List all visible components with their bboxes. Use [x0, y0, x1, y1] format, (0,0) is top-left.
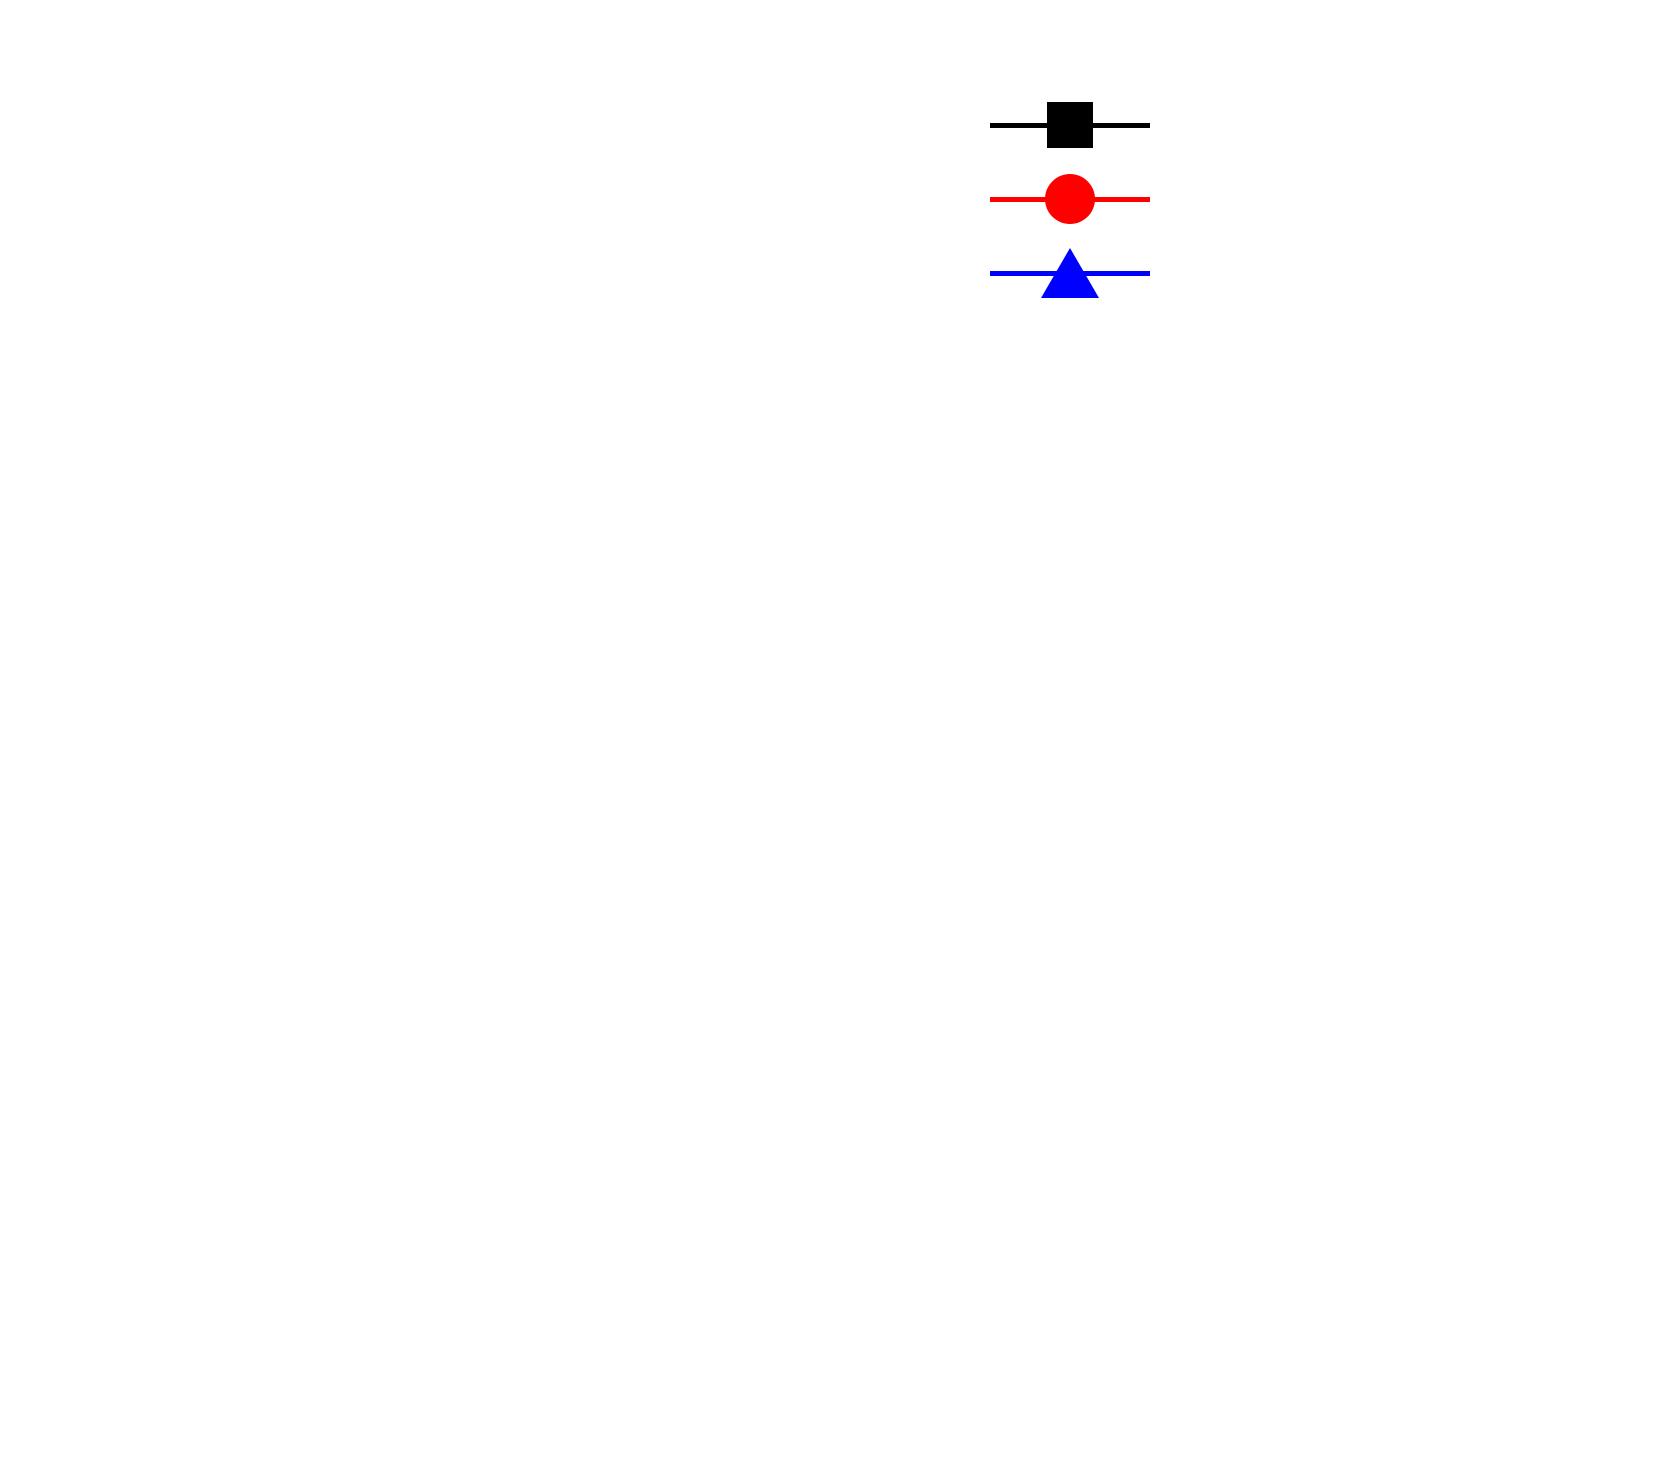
triangle-marker-icon [1041, 248, 1099, 298]
legend-item-3rd-catalysis[interactable] [990, 236, 1510, 310]
legend-key-2nd [990, 169, 1150, 229]
chart-figure [0, 0, 1669, 1466]
legend-item-1st-catalysis[interactable] [990, 88, 1510, 162]
circle-marker-icon [1045, 174, 1095, 224]
square-marker-icon [1047, 102, 1093, 148]
legend-item-2nd-catalysis[interactable] [990, 162, 1510, 236]
chart-legend [990, 88, 1510, 310]
legend-key-3rd [990, 243, 1150, 303]
legend-key-1st [990, 95, 1150, 155]
